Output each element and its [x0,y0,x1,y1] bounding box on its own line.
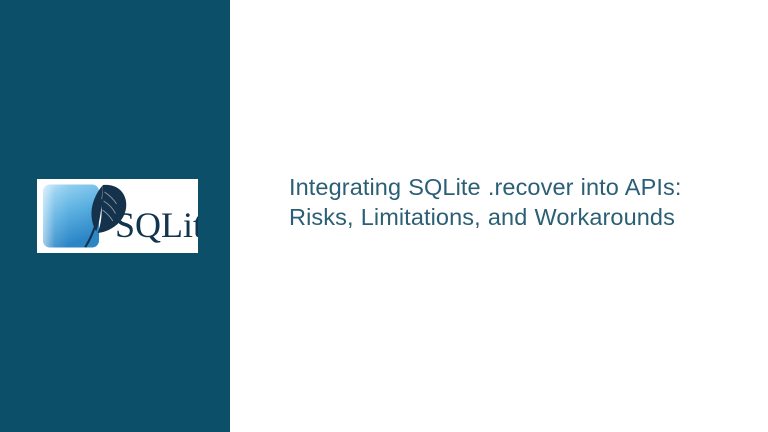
sidebar-accent-panel: SQLite [0,0,230,432]
svg-text:SQLite: SQLite [115,205,198,245]
sqlite-logo: SQLite [37,179,198,253]
sqlite-logo-artwork: SQLite [37,179,198,253]
title-slide: SQLite Integrating SQLite .recover into … [0,0,768,432]
page-title: Integrating SQLite .recover into APIs: R… [289,172,729,232]
title-block: Integrating SQLite .recover into APIs: R… [289,172,729,232]
